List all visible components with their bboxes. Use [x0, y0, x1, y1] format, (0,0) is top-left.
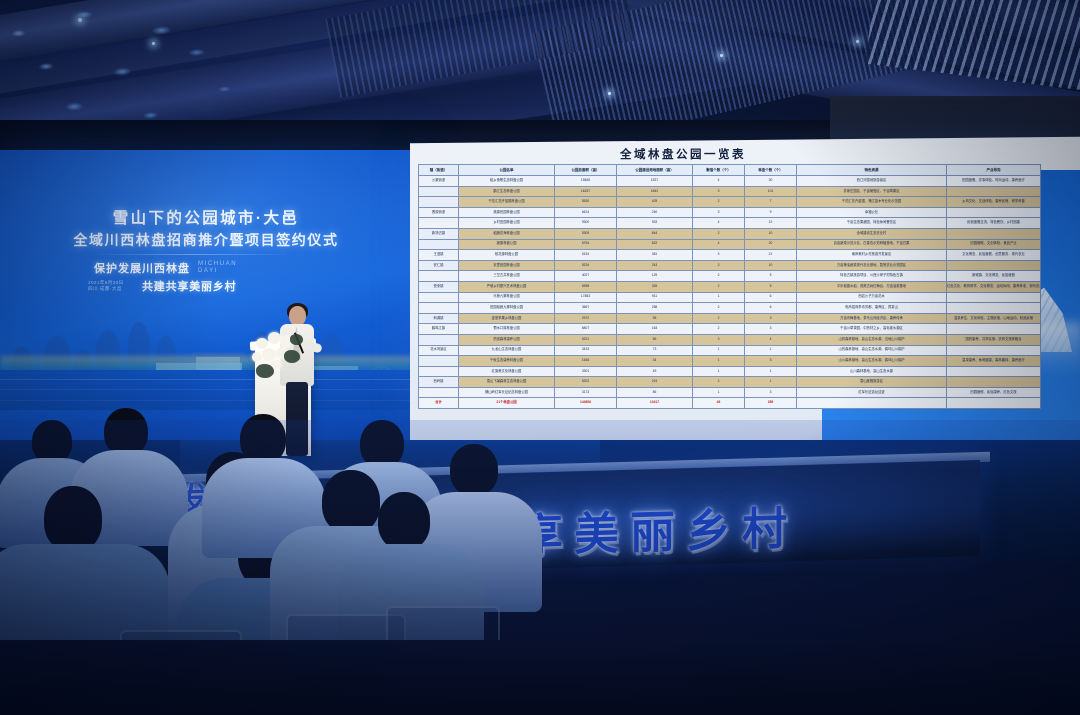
cell-town: 鹤鸣江镇	[419, 324, 459, 335]
flower-arrangement	[250, 328, 316, 382]
cell-cluster: 2	[693, 324, 745, 335]
cell-area: 5302	[555, 377, 617, 388]
event-title-line2: 全域川西林盘招商推介暨项目签约仪式	[0, 230, 412, 250]
cell-linpan: 1	[745, 377, 797, 388]
cell-linpan: 21	[745, 250, 797, 261]
cell-cluster: 2	[693, 197, 745, 208]
table-row: 药道森林康养公园52215634山药森林基地、高山生态水源、当地山川保护国药康养…	[419, 334, 1041, 345]
col-header-name: 公园名单	[459, 165, 555, 176]
cell-town	[419, 197, 459, 208]
table-total-row: 合计21个林盘公园1448061041746269	[419, 398, 1041, 409]
cell-cluster: 3	[693, 207, 745, 218]
cell-build-area: 258	[617, 303, 693, 314]
ceiling-light	[720, 54, 723, 57]
logo-date-text: 2021年6月30日 四川·成都·大邑	[88, 280, 124, 292]
cell-build-area: 622	[617, 239, 693, 250]
cell-name: 雪山飞瀑森林生态林盘公园	[459, 377, 555, 388]
total-name: 21个林盘公园	[459, 398, 555, 409]
cell-area: 17853	[555, 292, 617, 303]
cell-linpan: 9	[745, 207, 797, 218]
cell-cluster: 4	[693, 218, 745, 229]
cell-feature: 万亩青梅基地、茶马山河经济区、康养传承	[797, 313, 947, 324]
cell-feature: 苏家庄园区、千亩葡萄区、千亩莓果区	[797, 186, 947, 197]
cell-cluster: 3	[693, 186, 745, 197]
cell-area: 5309	[555, 228, 617, 239]
speaker-trousers	[286, 382, 308, 456]
cell-name: 横山岭红军长征纪念林盘公园	[459, 387, 555, 398]
cell-area: 5154	[555, 250, 617, 261]
cell-town: 西岭镇	[419, 377, 459, 388]
cell-town	[419, 186, 459, 197]
cell-linpan: 4	[745, 334, 797, 345]
cell-area: 4027	[555, 271, 617, 282]
cell-industry	[947, 186, 1041, 197]
cell-name: 桃花源林盘公园	[459, 250, 555, 261]
table-row: 横山岭红军长征纪念林盘公园31738613红军长征遗址遗迹田园度假、民俗康养、红…	[419, 387, 1041, 398]
cell-industry	[947, 324, 1041, 335]
cell-industry: 乡风文化、文创体验、康养民宿、研学科普	[947, 197, 1041, 208]
table-row: 新场古镇稻蔬花海林盘公园5309644210全域建设生态农业村	[419, 228, 1041, 239]
cell-industry: 红色文化、教育研学、文化博览、运动休闲、康养养老、现代农业	[947, 281, 1041, 292]
cell-town: 安仁镇	[419, 260, 459, 271]
cell-linpan: 6	[745, 292, 797, 303]
cell-name: 乐熊九寨林盘公园	[459, 292, 555, 303]
cell-industry: 温泉养生、文化体验、主题民宿、山地运动、精品民宿	[947, 313, 1041, 324]
cell-area: 3433	[555, 345, 617, 356]
cell-build-area: 163	[617, 324, 693, 335]
table-row: 悦来镇严坡乡村振兴艺术林盘公园699832625平乐稻香水稻、燕窝古树红梅谷、万…	[419, 281, 1041, 292]
speaker-head	[289, 306, 306, 326]
cell-industry	[947, 292, 1041, 303]
table-title: 全域林盘公园一览表	[528, 146, 838, 162]
cell-area: 3173	[555, 387, 617, 398]
cell-linpan: 7	[745, 197, 797, 208]
cell-build-area: 95	[617, 313, 693, 324]
cell-industry: 新城镇、文化博览、民俗度假	[947, 271, 1041, 282]
cell-industry: 田园度假、民俗康养、红色文旅	[947, 387, 1041, 398]
cell-build-area: 243	[617, 260, 693, 271]
event-title-line1: 雪山下的公园城市·大邑	[0, 206, 412, 228]
cell-area: 3667	[555, 303, 617, 314]
ceiling-light	[856, 40, 859, 43]
cell-town	[419, 292, 459, 303]
cell-build-area: 644	[617, 228, 693, 239]
cell-town: 沙渠街道	[419, 176, 459, 187]
cell-town	[419, 356, 459, 367]
total-linpan: 269	[745, 398, 797, 409]
table-row: 千秋生态康养林盘公园15463413山川森林基地、高山生态水源、偶坪山川保护温泉…	[419, 356, 1041, 367]
cell-build-area: 1537	[617, 176, 693, 187]
table-row: 沙渠街道稻乡渔歌生态林盘公园158451537430西江河湿地旅游景区田园度假、…	[419, 176, 1041, 187]
cell-name: 鹤江生态林盘公园	[459, 186, 555, 197]
cell-build-area: 933	[617, 218, 693, 229]
led-sign-left: 护发展	[138, 472, 252, 521]
cell-feature: 西岩沙子万亩花木	[797, 292, 947, 303]
cell-area: 15845	[555, 176, 617, 187]
cell-build-area: 34	[617, 356, 693, 367]
foliage	[290, 334, 303, 345]
total-industry	[947, 398, 1041, 409]
cell-linpan: 30	[745, 176, 797, 187]
cell-feature: 西江河湿地旅游景区	[797, 176, 947, 187]
col-header-town: 镇（街道）	[419, 165, 459, 176]
cell-cluster: 1	[693, 356, 745, 367]
water-band	[0, 370, 412, 410]
cell-name: 药道森林康养公园	[459, 334, 555, 345]
col-header-build-area: 公园建设用地面积（亩）	[617, 165, 693, 176]
cell-area: 1546	[555, 356, 617, 367]
cell-build-area: 129	[617, 271, 693, 282]
logo-main-text: 保护发展川西林盘	[94, 260, 190, 276]
cell-name: 金堂苹果乡林盘公园	[459, 313, 555, 324]
water-line	[0, 389, 412, 390]
cell-cluster: 2	[693, 281, 745, 292]
cell-feature: 千亩生态果蔬园、特色休闲餐饮区	[797, 218, 947, 229]
cell-area: 6754	[555, 239, 617, 250]
cell-linpan: 12	[745, 218, 797, 229]
cell-linpan: 101	[745, 186, 797, 197]
col-header-area: 公园总面积（亩）	[555, 165, 617, 176]
cell-cluster: 2	[693, 271, 745, 282]
cell-area: 6807	[555, 324, 617, 335]
floor	[0, 640, 1080, 715]
cell-cluster: 3	[693, 334, 745, 345]
cell-cluster: 1	[693, 387, 745, 398]
cell-feature: 全域建设生态农业村	[797, 228, 947, 239]
table-row: 乡村田园林盘公园9300933412千亩生态果蔬园、特色休闲餐饮区民宿度假交流、…	[419, 218, 1041, 229]
cell-build-area: 240	[617, 207, 693, 218]
cell-cluster: 4	[693, 239, 745, 250]
water-line	[0, 379, 412, 380]
cell-build-area: 1842	[617, 186, 693, 197]
cell-town	[419, 239, 459, 250]
cell-build-area: 73	[617, 345, 693, 356]
logo-english-text: MICHUAN DAYI	[198, 261, 237, 275]
cell-area: 5530	[555, 197, 617, 208]
table-row: 晋原街道桃源田园林盘公园642424039幸福公社	[419, 207, 1041, 218]
flower	[268, 332, 281, 344]
ceiling-light	[608, 92, 611, 95]
logo-slogan-text: 共建共享美丽乡村	[142, 278, 236, 294]
col-header-linpan: 林盘个数（个）	[745, 165, 797, 176]
cell-industry	[947, 207, 1041, 218]
cell-name: 千秋生态康养林盘公园	[459, 356, 555, 367]
park-list-table: 镇（街道） 公园名单 公园总面积（亩） 公园建设用地面积（亩） 聚落个数（个） …	[418, 164, 1041, 409]
cell-area: 6424	[555, 207, 617, 218]
cell-town	[419, 387, 459, 398]
cell-linpan: 20	[745, 239, 797, 250]
cell-industry	[947, 228, 1041, 239]
cell-name: 稻乡渔歌生态林盘公园	[459, 176, 555, 187]
cell-name: 严坡乡村振兴艺术林盘公园	[459, 281, 555, 292]
cell-build-area: 326	[617, 281, 693, 292]
cell-town	[419, 271, 459, 282]
col-header-feature: 特色资源	[797, 165, 947, 176]
cell-cluster: 2	[693, 303, 745, 314]
cell-feature: 山药森林基地、高山生态水源、偶坪山川保护	[797, 345, 947, 356]
cell-industry: 田园度假、农事体验、时尚运动、康养医疗	[947, 176, 1041, 187]
cell-name: 九龙山生态林盘公园	[459, 345, 555, 356]
cell-feature: 千亩川草茶园、中药材之乡、高标准水源区	[797, 324, 947, 335]
cell-linpan: 5	[745, 281, 797, 292]
cell-name: 红旗美文化林盘公园	[459, 366, 555, 377]
cell-area: 5234	[555, 260, 617, 271]
table-row: 田园稻蔬九寨林盘公园366725826电商招商李青芳都、康养区、宾宴山	[419, 303, 1041, 314]
cell-build-area: 56	[617, 334, 693, 345]
table-header-row: 镇（街道） 公园名单 公园总面积（亩） 公园建设用地面积（亩） 聚落个数（个） …	[419, 165, 1041, 176]
cell-industry: 田园度假、文创体验、食品产业	[947, 239, 1041, 250]
cell-feature: 万亩粮油蔬菜现代农业基地、智慧农业示范园区	[797, 260, 947, 271]
cell-town: 花水河景区	[419, 345, 459, 356]
cell-industry: 温泉康养、休闲健康、森林趣味、康养医疗	[947, 356, 1041, 367]
cell-area: 16237	[555, 186, 617, 197]
cell-name: 蜀水口原林盘公园	[459, 324, 555, 335]
foliage	[256, 364, 274, 378]
cell-town	[419, 366, 459, 377]
total-build-area: 10417	[617, 398, 693, 409]
cell-cluster: 1	[693, 292, 745, 303]
ceiling-light	[78, 18, 82, 22]
cell-cluster: 3	[693, 260, 745, 271]
cell-town	[419, 303, 459, 314]
led-sign-main: 共建共享美丽乡村	[350, 492, 798, 570]
flower	[252, 352, 262, 362]
cell-town	[419, 334, 459, 345]
cell-linpan: 10	[745, 228, 797, 239]
cell-build-area: 219	[617, 377, 693, 388]
cell-cluster: 3	[693, 250, 745, 261]
table-row: 红旗美文化林盘公园33014911山川森林基地、高山生态水源	[419, 366, 1041, 377]
title-divider	[92, 254, 292, 255]
cell-cluster: 2	[693, 313, 745, 324]
cell-linpan: 3	[745, 313, 797, 324]
cell-cluster: 4	[693, 176, 745, 187]
table-row: 千花汇花卉苗圃林盘公园553042927千花汇花卉苗圃、蒲江苗木专业化示范园乡风…	[419, 197, 1041, 208]
cell-linpan: 3	[745, 387, 797, 398]
total-area: 144806	[555, 398, 617, 409]
cell-build-area: 49	[617, 366, 693, 377]
total-cluster: 46	[693, 398, 745, 409]
col-header-cluster: 聚落个数（个）	[693, 165, 745, 176]
foliage	[284, 350, 300, 363]
cell-town	[419, 218, 459, 229]
cell-area: 2972	[555, 313, 617, 324]
cell-feature: 山药森林基地、高山生态水源、当地山川保护	[797, 334, 947, 345]
cell-feature: 山川森林基地、高山生态水源、偶坪山川保护	[797, 356, 947, 367]
cell-industry	[947, 303, 1041, 314]
table-row: 三岔古井林盘公园402712925特色古镇旅游项目、川西沙岸子村特色古镇新城镇、…	[419, 271, 1041, 282]
cell-linpan: 3	[745, 324, 797, 335]
cell-name: 三岔古井林盘公园	[459, 271, 555, 282]
cell-industry	[947, 377, 1041, 388]
conference-stage-photo: 雪山下的公园城市·大邑 全域川西林盘招商推介暨项目签约仪式 保护发展川西林盘 M…	[0, 0, 1080, 715]
cell-feature: 南岸美村乡村旅游开发景区	[797, 250, 947, 261]
cell-town: 晋原街道	[419, 207, 459, 218]
cell-name: 千花汇花卉苗圃林盘公园	[459, 197, 555, 208]
cell-industry	[947, 260, 1041, 271]
cell-linpan: 6	[745, 303, 797, 314]
table-row: 鹤江生态林盘公园1623718423101苏家庄园区、千亩葡萄区、千亩莓果区	[419, 186, 1041, 197]
cell-industry: 民宿度假交流、特色餐饮、乡村团建	[947, 218, 1041, 229]
cell-cluster: 1	[693, 366, 745, 377]
cell-name: 安里田园林盘公园	[459, 260, 555, 271]
cell-linpan: 1	[745, 366, 797, 377]
table-row: 蔬香林盘公园6754622420百亩蔬菜示范片区、白香杏示范种植基地、千亩白果田…	[419, 239, 1041, 250]
table-row: 王泗镇桃花源林盘公园5154381321南岸美村乡村旅游开发景区文化博览、民俗度…	[419, 250, 1041, 261]
col-header-industry: 产业导向	[947, 165, 1041, 176]
cell-cluster: 2	[693, 228, 745, 239]
cell-name: 桃源田园林盘公园	[459, 207, 555, 218]
table-row: 斜源镇金堂苹果乡林盘公园29729523万亩青梅基地、茶马山河经济区、康养传承温…	[419, 313, 1041, 324]
cell-build-area: 911	[617, 292, 693, 303]
cell-cluster: 1	[693, 345, 745, 356]
cell-linpan: 3	[745, 356, 797, 367]
cell-feature: 幸福公社	[797, 207, 947, 218]
cell-name: 田园稻蔬九寨林盘公园	[459, 303, 555, 314]
cell-feature: 电商招商李青芳都、康养区、宾宴山	[797, 303, 947, 314]
cell-area: 3301	[555, 366, 617, 377]
cell-area: 6998	[555, 281, 617, 292]
cell-area: 5221	[555, 334, 617, 345]
right-projection-screen: 全域林盘公园一览表 镇（街道） 公园名单 公园总面积（亩） 公园建设用地面积（亩…	[410, 137, 1080, 473]
cell-town: 悦来镇	[419, 281, 459, 292]
cell-feature: 雪山度假旅游区	[797, 377, 947, 388]
table-row: 乐熊九寨林盘公园1785391116西岩沙子万亩花木	[419, 292, 1041, 303]
cell-feature: 平乐稻香水稻、燕窝古树红梅谷、万亩油菜基地	[797, 281, 947, 292]
cell-cluster: 2	[693, 377, 745, 388]
ceiling-light	[152, 42, 155, 45]
cell-industry: 文化博览、民俗度假、创意服务、现代农业	[947, 250, 1041, 261]
cell-feature: 红军长征遗址遗迹	[797, 387, 947, 398]
cell-build-area: 86	[617, 387, 693, 398]
total-feature	[797, 398, 947, 409]
cell-linpan: 10	[745, 260, 797, 271]
cell-town: 王泗镇	[419, 250, 459, 261]
cell-feature: 山川森林基地、高山生态水源	[797, 366, 947, 377]
cell-name: 蔬香林盘公园	[459, 239, 555, 250]
cell-industry: 国药康养、共享民宿、农商文旅体融合	[947, 334, 1041, 345]
cell-build-area: 429	[617, 197, 693, 208]
village-illustration	[0, 290, 412, 410]
total-label: 合计	[419, 398, 459, 409]
table-body: 沙渠街道稻乡渔歌生态林盘公园158451537430西江河湿地旅游景区田园度假、…	[419, 176, 1041, 409]
cell-town: 新场古镇	[419, 228, 459, 239]
cell-industry	[947, 366, 1041, 377]
cell-linpan: 5	[745, 271, 797, 282]
cell-industry	[947, 345, 1041, 356]
cell-linpan: 1	[745, 345, 797, 356]
table-row: 花水河景区九龙山生态林盘公园34337311山药森林基地、高山生态水源、偶坪山川…	[419, 345, 1041, 356]
left-projection-screen: 雪山下的公园城市·大邑 全域川西林盘招商推介暨项目签约仪式 保护发展川西林盘 M…	[0, 150, 412, 462]
cell-build-area: 381	[617, 250, 693, 261]
table-row: 鹤鸣江镇蜀水口原林盘公园680716323千亩川草茶园、中药材之乡、高标准水源区	[419, 324, 1041, 335]
cell-feature: 千花汇花卉苗圃、蒲江苗木专业化示范园	[797, 197, 947, 208]
cell-name: 稻蔬花海林盘公园	[459, 228, 555, 239]
cell-feature: 百亩蔬菜示范片区、白香杏示范种植基地、千亩白果	[797, 239, 947, 250]
cell-area: 9300	[555, 218, 617, 229]
table-row: 安仁镇安里田园林盘公园5234243310万亩粮油蔬菜现代农业基地、智慧农业示范…	[419, 260, 1041, 271]
table-row: 西岭镇雪山飞瀑森林生态林盘公园530221921雪山度假旅游区	[419, 377, 1041, 388]
event-logo: 保护发展川西林盘 MICHUAN DAYI 2021年6月30日 四川·成都·大…	[86, 258, 301, 300]
water-line	[0, 400, 412, 401]
cell-name: 乡村田园林盘公园	[459, 218, 555, 229]
cell-feature: 特色古镇旅游项目、川西沙岸子村特色古镇	[797, 271, 947, 282]
cell-town: 斜源镇	[419, 313, 459, 324]
